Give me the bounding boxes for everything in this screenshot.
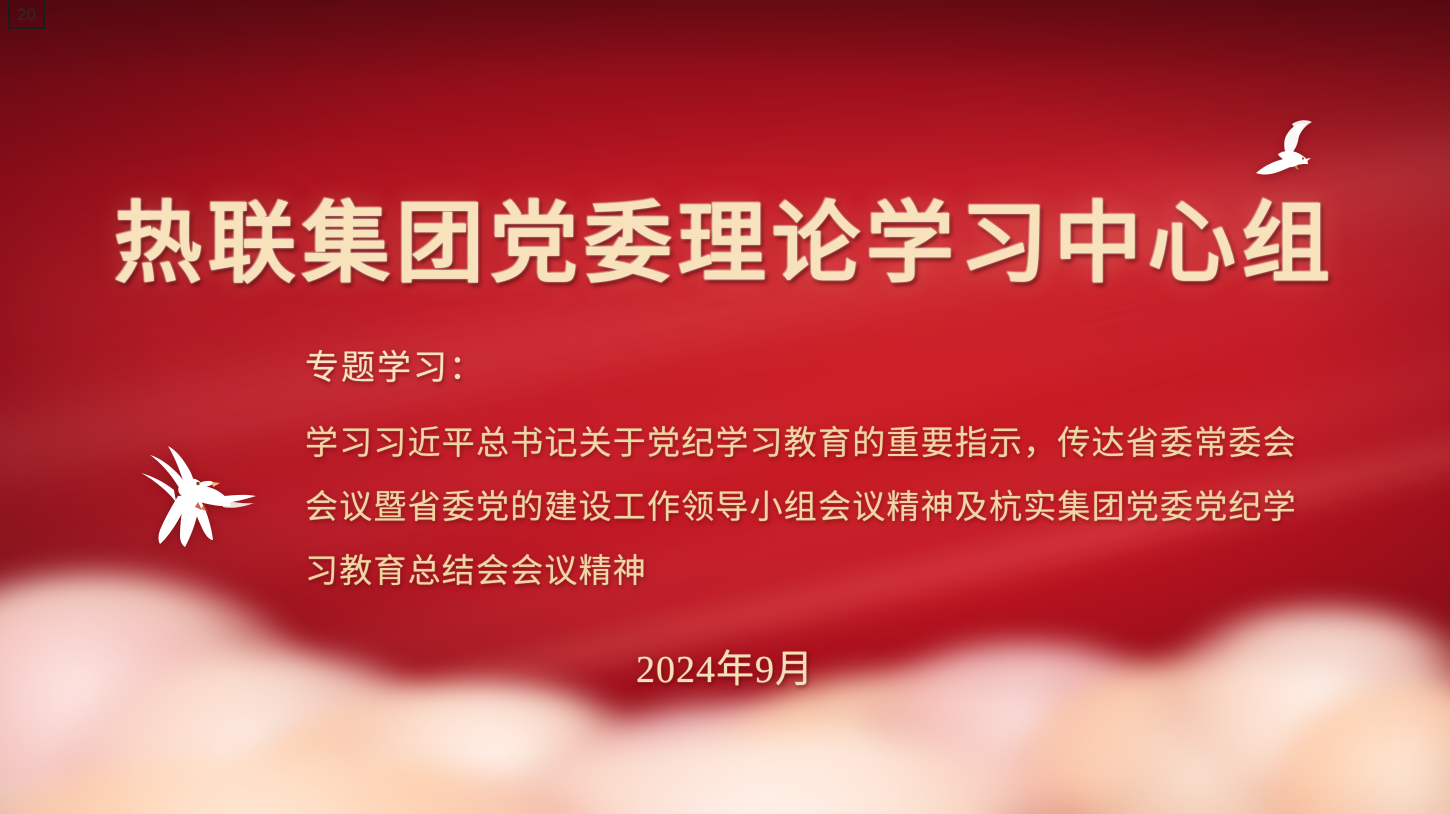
page-number-marker[interactable]: 20 <box>8 0 45 29</box>
date-label: 2024年9月 <box>0 638 1450 693</box>
presentation-slide: 热联集团党委理论学习中心组 专题学习： 学习习近平总书记关于党纪学习教育的重要指… <box>0 0 1450 814</box>
dove-icon <box>132 440 258 550</box>
dove-icon <box>1244 118 1322 190</box>
topic-line: 会议暨省委党的建设工作领导小组会议精神及杭实集团党委党纪学 <box>305 476 1255 540</box>
topic-line: 学习习近平总书记关于党纪学习教育的重要指示，传达省委常委会 <box>305 412 1255 476</box>
subtitle-label: 专题学习： <box>305 352 1255 386</box>
slide-body: 专题学习： 学习习近平总书记关于党纪学习教育的重要指示，传达省委常委会 会议暨省… <box>305 352 1255 604</box>
topic-paragraph: 学习习近平总书记关于党纪学习教育的重要指示，传达省委常委会 会议暨省委党的建设工… <box>305 412 1255 604</box>
page-title: 热联集团党委理论学习中心组 <box>0 196 1450 291</box>
topic-line: 习教育总结会会议精神 <box>305 540 1255 604</box>
